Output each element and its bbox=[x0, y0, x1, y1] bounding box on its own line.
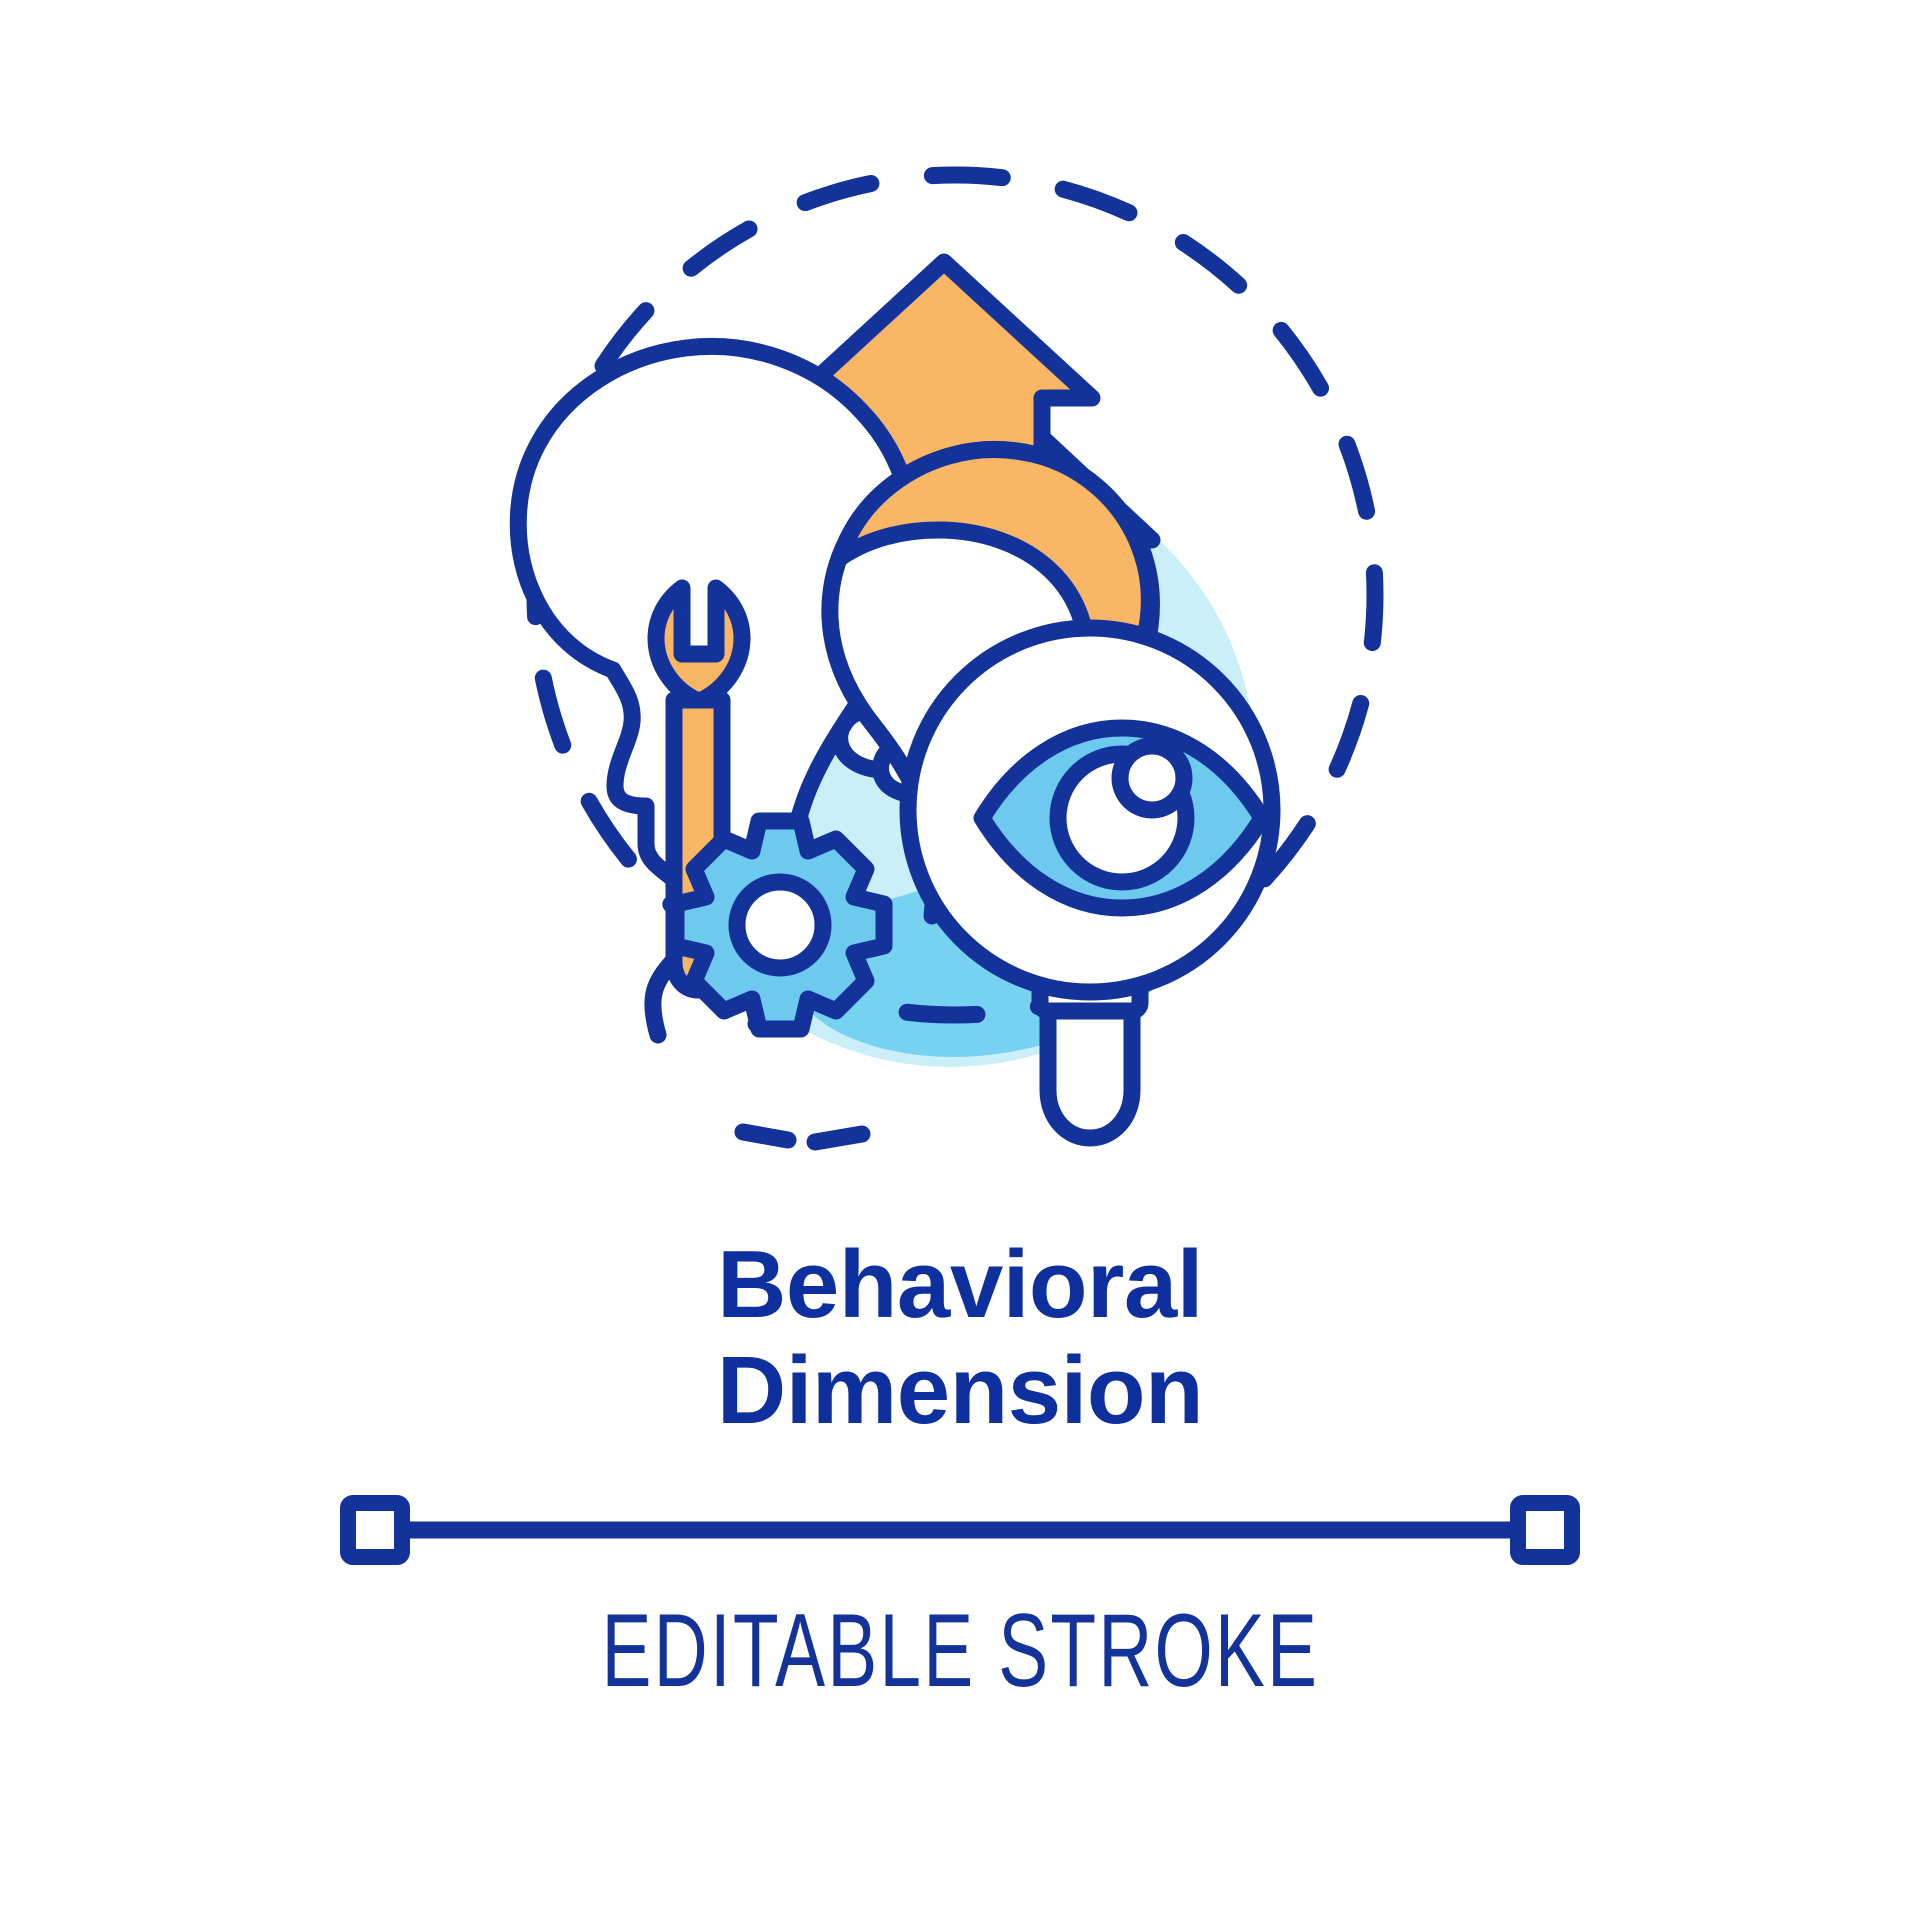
page-title: Behavioral Dimension bbox=[0, 1232, 1920, 1443]
editable-stroke-label: EDITABLE STROKE bbox=[601, 1592, 1319, 1711]
editable-stroke-width-indicator bbox=[0, 1480, 1920, 1580]
gear-icon bbox=[676, 821, 884, 1029]
square-handle-right[interactable] bbox=[1518, 1503, 1572, 1557]
title-line-2: Dimension bbox=[0, 1338, 1920, 1444]
icon-canvas: Behavioral Dimension EDITABLE STROKE bbox=[0, 0, 1920, 1920]
eye-highlight bbox=[1120, 746, 1184, 810]
title-line-1: Behavioral bbox=[0, 1232, 1920, 1338]
magnifier-handle bbox=[1048, 1008, 1132, 1138]
square-handle-left[interactable] bbox=[348, 1503, 402, 1557]
mouth-dashes bbox=[743, 1132, 862, 1142]
editable-stroke-label-wrap: EDITABLE STROKE bbox=[0, 1592, 1920, 1711]
